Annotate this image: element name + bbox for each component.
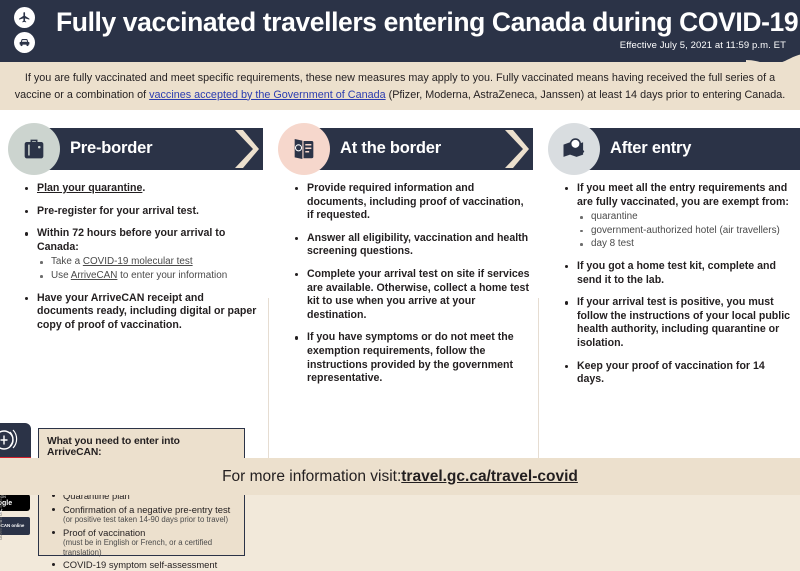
- arrivecan-item-text: COVID-19 symptom self-assessment: [63, 559, 217, 570]
- vaccines-accepted-link[interactable]: vaccines accepted by the Government of C…: [149, 89, 385, 101]
- suitcase-icon: [8, 123, 60, 175]
- list-item: Have your ArriveCAN receipt and document…: [22, 292, 257, 333]
- column-pre-border: Plan your quarantine. Pre-register for y…: [22, 182, 257, 341]
- sublist-item-text[interactable]: Use ArriveCAN to enter your information: [51, 270, 227, 281]
- section-header-at-the-border: At the border: [278, 128, 533, 170]
- sublist-pre-border: Take a COVID-19 molecular test Use Arriv…: [37, 256, 257, 282]
- list-item: If you have symptoms or do not meet the …: [292, 331, 532, 385]
- effective-date: Effective July 5, 2021 at 11:59 p.m. ET: [620, 40, 786, 51]
- section-label-after-entry: After entry: [610, 139, 691, 158]
- sublist-item: Take a COVID-19 molecular test: [37, 256, 257, 269]
- list-item-text: If your arrival test is positive, you mu…: [577, 296, 790, 349]
- sublist-item-text[interactable]: Take a COVID-19 molecular test: [51, 256, 193, 267]
- column-at-the-border: Provide required information and documen…: [292, 182, 532, 395]
- car-icon: [14, 32, 35, 53]
- list-item: If you meet all the entry requirements a…: [562, 182, 794, 251]
- arrivecan-box-title: What you need to enter into ArriveCAN:: [47, 436, 236, 458]
- arrivecan-list-item: Confirmation of a negative pre-entry tes…: [47, 504, 236, 525]
- list-item: If you got a home test kit, complete and…: [562, 260, 794, 287]
- arrivecan-item-text: Proof of vaccination: [63, 527, 145, 538]
- list-after-entry: If you meet all the entry requirements a…: [562, 182, 794, 387]
- footer-link[interactable]: travel.gc.ca/travel-covid: [401, 468, 578, 486]
- list-item-text: Within 72 hours before your arrival to C…: [37, 227, 225, 253]
- list-item: Plan your quarantine.: [22, 182, 257, 196]
- column-after-entry: If you meet all the entry requirements a…: [562, 182, 794, 396]
- arrivecan-list-item: Proof of vaccination (must be in English…: [47, 527, 236, 557]
- passport-icon: [278, 123, 330, 175]
- section-label-at-the-border: At the border: [340, 139, 441, 158]
- list-item-text: Have your ArriveCAN receipt and document…: [37, 292, 256, 331]
- sublist-item: day 8 test: [577, 238, 794, 251]
- banner-icon-group: [14, 7, 48, 55]
- header-banner: Fully vaccinated travellers entering Can…: [0, 0, 800, 62]
- arrivecan-wave-icon: [0, 428, 19, 457]
- infographic-page: Fully vaccinated travellers entering Can…: [0, 0, 800, 495]
- arrivecan-item-text: Confirmation of a negative pre-entry tes…: [63, 504, 230, 515]
- list-item: Complete your arrival test on site if se…: [292, 268, 532, 322]
- map-magnifier-icon: [548, 123, 600, 175]
- list-pre-border: Plan your quarantine. Pre-register for y…: [22, 182, 257, 332]
- google-play-badge-label: Google Play: [0, 500, 28, 516]
- airplane-icon: [14, 7, 35, 28]
- chevron-right-icon: [233, 128, 259, 170]
- sublist-item: Use ArriveCAN to enter your information: [37, 270, 257, 283]
- list-item: Within 72 hours before your arrival to C…: [22, 227, 257, 282]
- list-item-text: If you have symptoms or do not meet the …: [307, 331, 514, 384]
- intro-text-part2: (Pfizer, Moderna, AstraZeneca, Janssen) …: [386, 89, 786, 101]
- sublist-item-text: day 8 test: [591, 238, 634, 249]
- arrivecan-online-label: ArriveCAN online: [0, 523, 28, 528]
- sidebar-credit: Government of Canada: [0, 496, 3, 540]
- list-item-text: Provide required information and documen…: [307, 182, 524, 221]
- footer-bar: For more information visit: travel.gc.ca…: [0, 458, 800, 495]
- sublist-item: government-authorized hotel (air travell…: [577, 225, 794, 238]
- sublist-item: quarantine: [577, 211, 794, 224]
- list-item: Answer all eligibility, vaccination and …: [292, 232, 532, 259]
- footer-text: For more information visit:: [222, 468, 401, 486]
- plan-your-quarantine-link[interactable]: Plan your quarantine.: [37, 182, 145, 194]
- sublist-item-text: government-authorized hotel (air travell…: [591, 225, 780, 236]
- list-item-text: If you got a home test kit, complete and…: [577, 260, 776, 286]
- list-item-text: Pre-register for your arrival test.: [37, 205, 199, 217]
- section-label-pre-border: Pre-border: [70, 139, 152, 158]
- list-item-text: Keep your proof of vaccination for 14 da…: [577, 360, 765, 386]
- arrivecan-item-note: (or positive test taken 14-90 days prior…: [63, 515, 236, 524]
- list-item-text: Complete your arrival test on site if se…: [307, 268, 530, 321]
- page-title: Fully vaccinated travellers entering Can…: [56, 6, 786, 38]
- list-item: Provide required information and documen…: [292, 182, 532, 223]
- section-header-after-entry: After entry: [548, 128, 800, 170]
- main-content: Pre-border Plan your quarantine. Pre-reg…: [0, 110, 800, 458]
- list-item: Pre-register for your arrival test.: [22, 205, 257, 219]
- sublist-after-entry: quarantine government-authorized hotel (…: [577, 211, 794, 251]
- list-item-text: Answer all eligibility, vaccination and …: [307, 232, 528, 258]
- intro-paragraph: If you are fully vaccinated and meet spe…: [0, 62, 800, 110]
- arrivecan-online-button[interactable]: Sign in to ArriveCAN online: [0, 517, 30, 535]
- list-at-the-border: Provide required information and documen…: [292, 182, 532, 386]
- sublist-item-text: quarantine: [591, 211, 638, 222]
- chevron-right-icon: [503, 128, 529, 170]
- list-item: If your arrival test is positive, you mu…: [562, 296, 794, 350]
- arrivecan-list-item: COVID-19 symptom self-assessment: [47, 559, 236, 570]
- arrivecan-item-note: (must be in English or French, or a cert…: [63, 538, 236, 557]
- section-header-pre-border: Pre-border: [8, 128, 263, 170]
- list-item: Keep your proof of vaccination for 14 da…: [562, 360, 794, 387]
- list-item-text: If you meet all the entry requirements a…: [577, 182, 789, 208]
- google-play-badge[interactable]: GET IT ON Google Play: [0, 494, 30, 511]
